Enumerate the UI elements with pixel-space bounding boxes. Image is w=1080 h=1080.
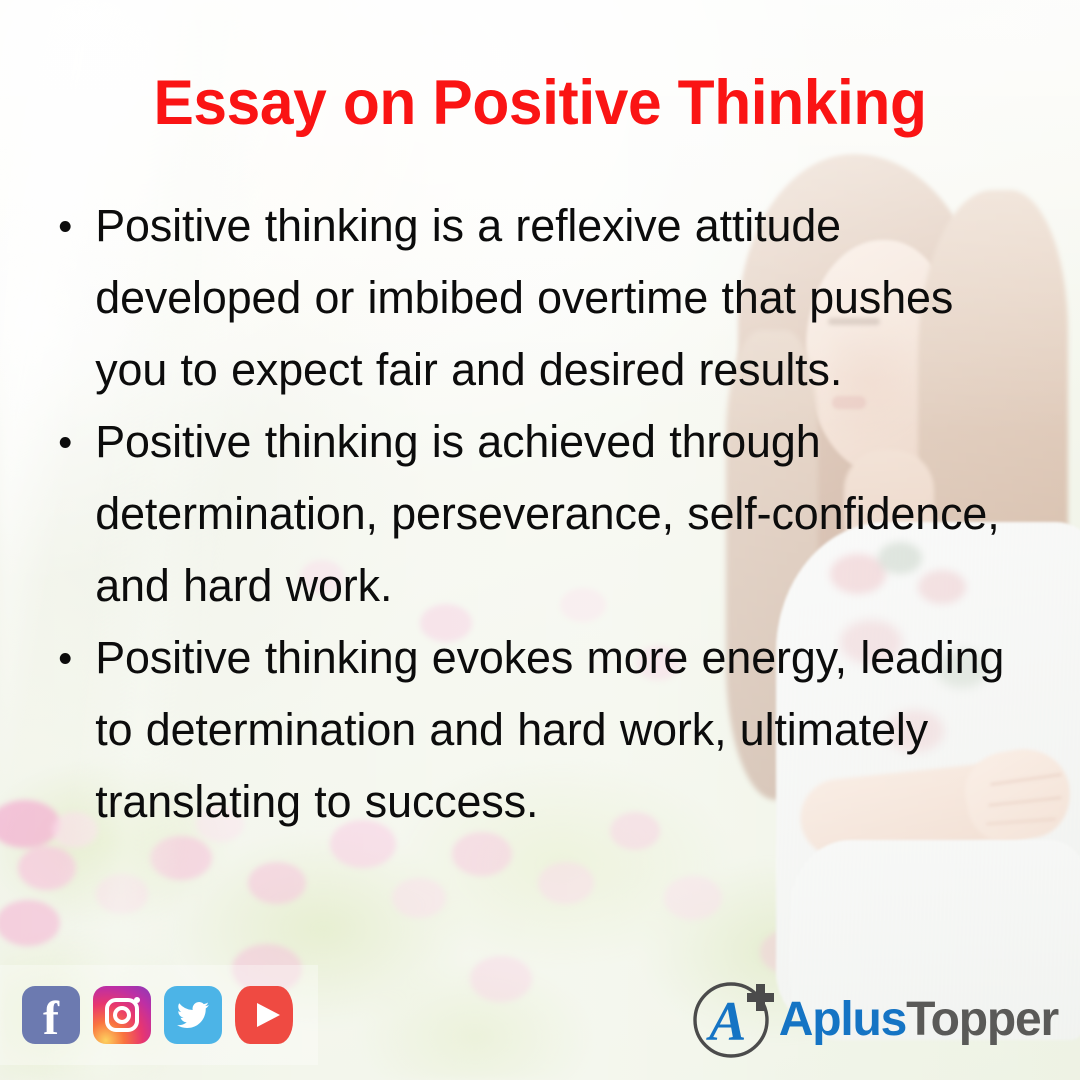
instagram-dot-glyph: [134, 997, 140, 1003]
facebook-glyph: f: [22, 995, 80, 1043]
bullet-list: Positive thinking is a reflexive attitud…: [46, 190, 1036, 838]
poster-canvas: Essay on Positive Thinking Positive thin…: [0, 0, 1080, 1080]
list-item: Positive thinking is achieved through de…: [46, 406, 1021, 622]
social-links: f: [22, 986, 293, 1044]
list-item: Positive thinking is a reflexive attitud…: [46, 190, 1021, 406]
logo-letter-a: A: [706, 991, 746, 1053]
list-item: Positive thinking evokes more energy, le…: [46, 622, 1021, 838]
logo-plus-bar-v: [756, 984, 765, 1011]
logo-word-primary: Aplus: [779, 993, 906, 1046]
brand-logo[interactable]: A AplusTopper: [689, 978, 1058, 1062]
youtube-icon[interactable]: [235, 986, 293, 1044]
twitter-bird-glyph: [174, 999, 212, 1031]
logo-wordmark: AplusTopper: [779, 996, 1058, 1044]
a-plus-circle-mark: A: [689, 978, 785, 1062]
twitter-icon[interactable]: [164, 986, 222, 1044]
page-title: Essay on Positive Thinking: [22, 72, 1059, 135]
instagram-icon[interactable]: [93, 986, 151, 1044]
logo-word-secondary: Topper: [906, 993, 1058, 1046]
instagram-lens-glyph: [113, 1006, 131, 1024]
facebook-icon[interactable]: f: [22, 986, 80, 1044]
youtube-play-glyph: [257, 1003, 280, 1027]
